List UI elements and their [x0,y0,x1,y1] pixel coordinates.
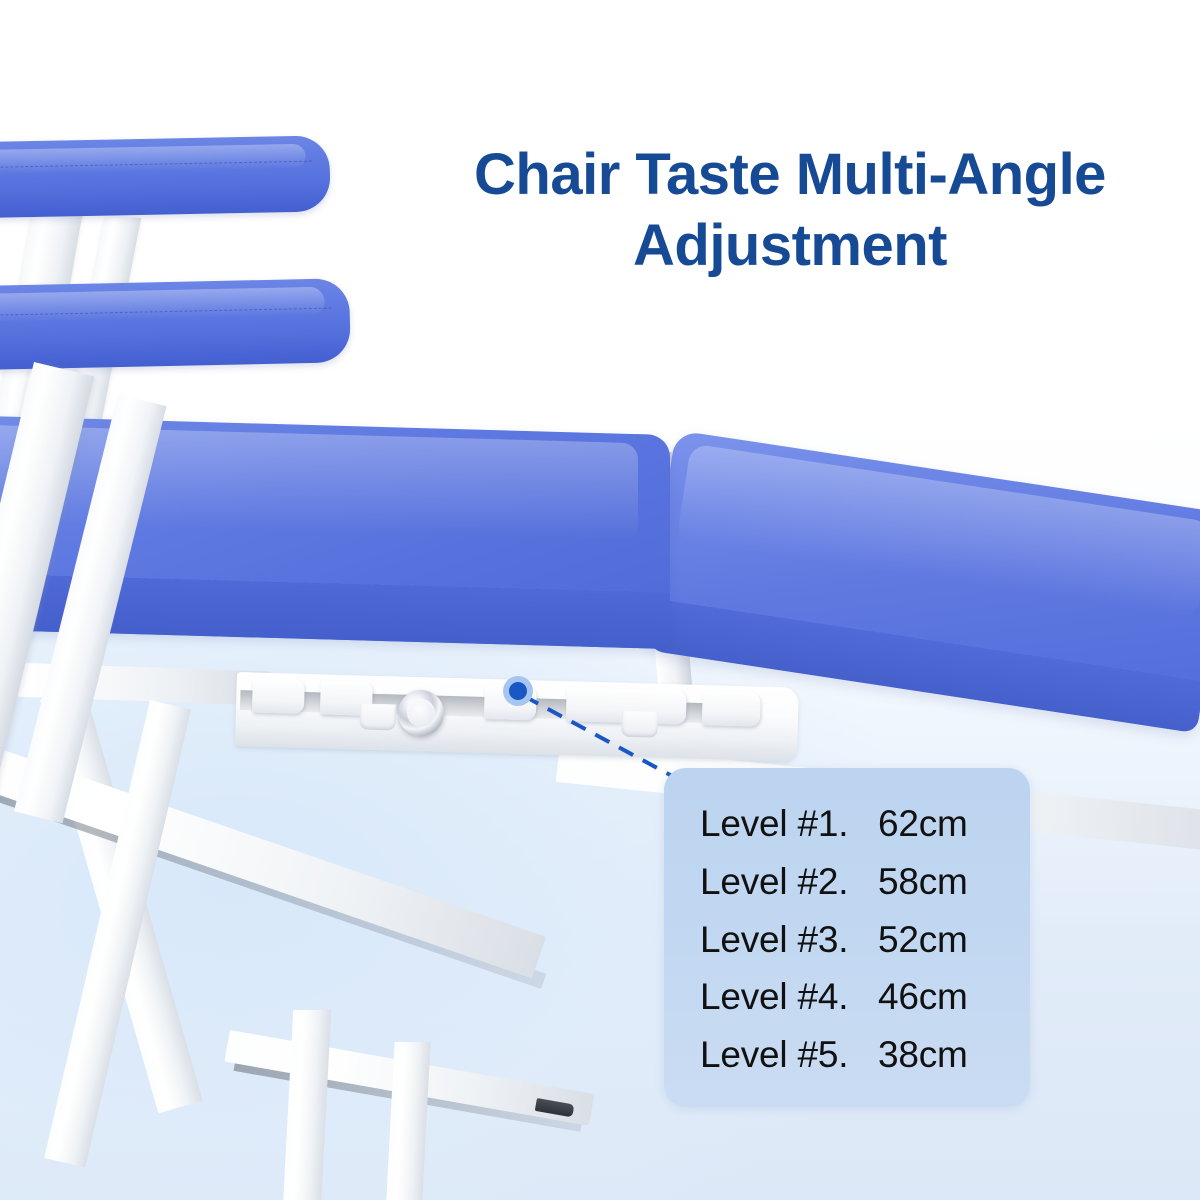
rail-notch-cut-a [359,703,396,730]
cushion-highlight [676,443,1200,618]
adjustment-knob [398,690,444,736]
list-item: Level #2. 58cm [664,860,1030,904]
product-feature-image: Chair Taste Multi-Angle Adjustment Level… [0,0,1200,1200]
rail-notch-1 [252,678,305,713]
level-label: Level #5. [700,1033,878,1077]
list-item: Level #3. 52cm [664,918,1030,962]
level-value: 58cm [878,860,968,904]
level-label: Level #1. [700,802,878,846]
pad-highlight [0,143,306,176]
armrest-pad-bottom [0,278,351,371]
adjustment-rail-marker-icon [503,676,533,706]
level-value: 62cm [878,802,968,846]
level-label: Level #3. [700,918,878,962]
list-item: Level #1. 62cm [664,802,1030,846]
level-label: Level #2. [700,860,878,904]
list-item: Level #4. 46cm [664,975,1030,1019]
frame-leg-vertical-1 [283,1010,331,1200]
level-value: 52cm [878,918,968,962]
rail-notch-cut-b [621,711,658,738]
pad-seam [0,161,312,170]
level-value: 38cm [878,1033,968,1077]
armrest-pad-top [0,135,331,219]
level-panel: Level #1. 62cm Level #2. 58cm Level #3. … [664,768,1030,1107]
pad-seam [0,308,332,318]
rail-notch-5 [702,691,761,727]
pad-highlight [0,287,325,324]
list-item: Level #5. 38cm [664,1033,1030,1077]
page-title: Chair Taste Multi-Angle Adjustment [400,140,1180,282]
level-label: Level #4. [700,975,878,1019]
level-value: 46cm [878,975,968,1019]
